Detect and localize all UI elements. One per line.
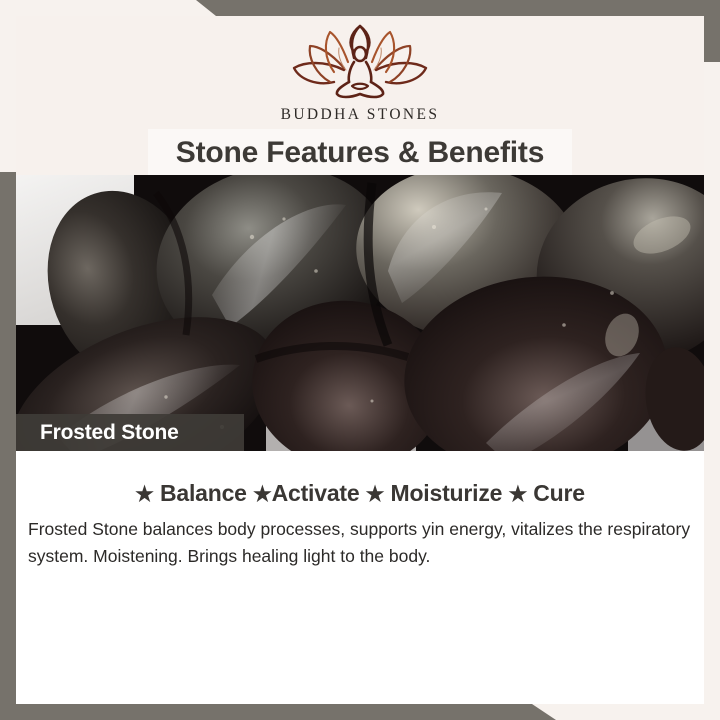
benefit-item-2: ★ Moisturize <box>366 480 509 506</box>
title-band: Stone Features & Benefits <box>148 129 572 176</box>
card-body: BUDDHA STONES Stone Features & Benefits <box>16 16 704 704</box>
benefits-list: ★ Balance ★Activate ★ Moisturize ★ Cure <box>16 480 704 507</box>
brand-name: BUDDHA STONES <box>16 106 704 124</box>
star-icon: ★ <box>135 483 154 506</box>
stone-photo-graphic <box>16 175 704 451</box>
benefit-label-0: Balance <box>154 480 253 506</box>
frame-border-top <box>0 0 720 16</box>
card-body-text: ★ Balance ★Activate ★ Moisturize ★ Cure … <box>16 451 704 704</box>
star-icon: ★ <box>253 483 272 506</box>
benefit-label-3: Cure <box>527 480 585 506</box>
frame-border-left <box>0 172 16 720</box>
lotus-meditation-icon <box>284 24 436 104</box>
stone-info-card: BUDDHA STONES Stone Features & Benefits <box>0 0 720 720</box>
stone-name-label: Frosted Stone <box>16 421 179 445</box>
benefit-item-0: ★ Balance <box>135 480 253 506</box>
star-icon: ★ <box>366 483 385 506</box>
photo-caption-banner: Frosted Stone <box>16 414 244 451</box>
star-icon: ★ <box>508 483 527 506</box>
benefit-label-2: Moisturize <box>384 480 508 506</box>
benefit-item-3: ★ Cure <box>508 480 584 506</box>
benefit-label-1: Activate <box>272 480 366 506</box>
page-title: Stone Features & Benefits <box>176 136 544 170</box>
frosted-stone-photo: Frosted Stone <box>16 175 704 451</box>
brand-lockup: BUDDHA STONES <box>16 24 704 124</box>
frame-border-bottom <box>0 704 720 720</box>
frame-border-right <box>704 0 720 62</box>
benefit-item-1: ★Activate <box>253 480 366 506</box>
description-text: Frosted Stone balances body processes, s… <box>28 516 692 569</box>
